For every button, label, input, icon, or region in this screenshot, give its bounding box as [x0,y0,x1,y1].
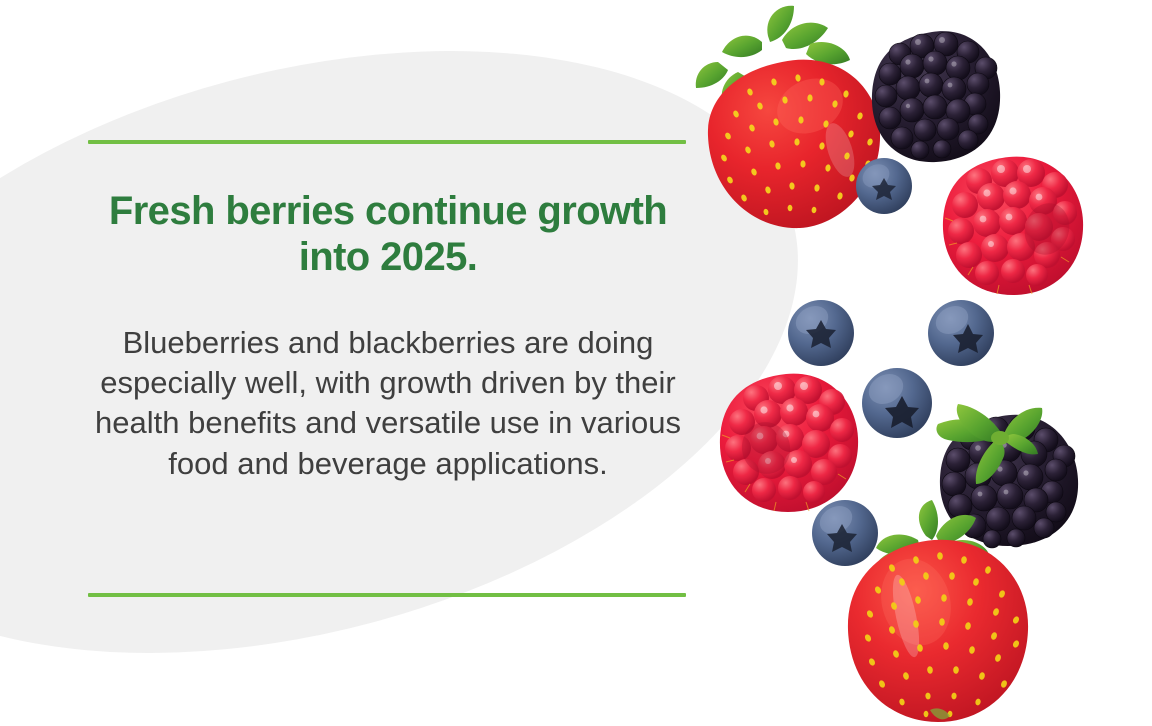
blueberry-mid-left-group [788,300,854,366]
blueberry-top-group [856,158,912,214]
page-title: Fresh berries continue growth into 2025. [88,188,688,281]
blueberry-bottom-group [812,500,878,566]
blueberry-mid-right-group [928,300,994,366]
text-block: Fresh berries continue growth into 2025.… [88,140,688,484]
blackberry-top-group [872,31,1000,162]
blueberry-center-group [862,368,932,438]
body-paragraph: Blueberries and blackberries are doing e… [88,323,688,484]
berry-artwork [690,0,1152,726]
top-divider [88,140,686,144]
raspberry-upper-group [943,157,1083,295]
infographic-canvas: Fresh berries continue growth into 2025.… [0,0,1152,726]
strawberry-top-group [696,6,880,228]
bottom-divider [88,593,686,597]
raspberry-lower-group [720,374,858,512]
